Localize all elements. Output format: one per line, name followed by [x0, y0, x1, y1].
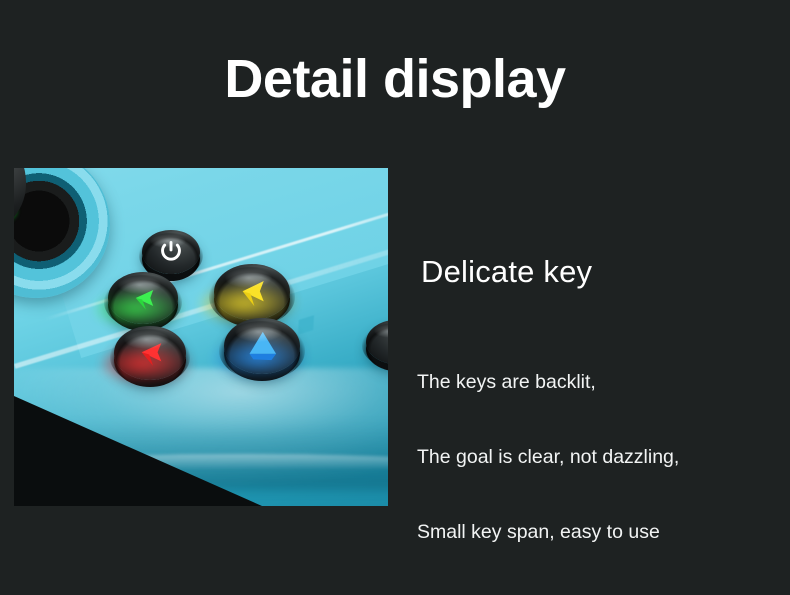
power-icon [154, 238, 189, 264]
arrow-up-icon-blue [235, 326, 288, 365]
arrow-left-icon-green [119, 279, 168, 315]
direction-button-yellow[interactable] [214, 264, 290, 320]
feature-description: The keys are backlit, The goal is clear,… [417, 320, 679, 595]
feature-line-3: Small key span, easy to use [417, 520, 679, 545]
power-button[interactable] [142, 230, 200, 274]
feature-line-1: The keys are backlit, [417, 370, 679, 395]
direction-button-green[interactable] [108, 272, 178, 324]
analog-stick-cap[interactable] [14, 168, 26, 238]
arrow-left-icon-yellow [225, 272, 278, 311]
page-root: Detail display [0, 0, 790, 506]
product-photo: C [14, 168, 388, 506]
feature-heading: Delicate key [421, 256, 592, 287]
direction-button-blue[interactable] [224, 318, 300, 374]
arrow-left-icon-red [125, 333, 175, 371]
direction-button-red[interactable] [114, 326, 186, 380]
feature-line-2: The goal is clear, not dazzling, [417, 445, 679, 470]
page-title: Detail display [0, 52, 790, 106]
